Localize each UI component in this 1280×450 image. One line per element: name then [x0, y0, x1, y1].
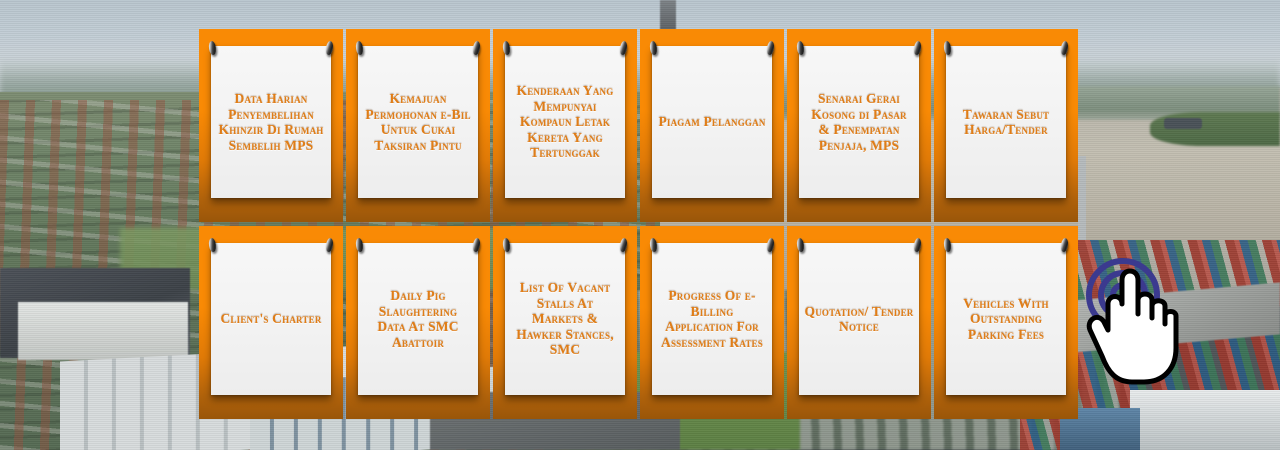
- card-row-1: Data Harian Penyembelihan Khinzir Di Rum…: [199, 29, 1081, 222]
- dataset-card-grid: Data Harian Penyembelihan Khinzir Di Rum…: [199, 29, 1081, 419]
- background-white-building: [18, 302, 188, 360]
- card-tile-kenderaan-kompaun-letak-kereta[interactable]: Kenderaan Yang Mempunyai Kompaun Letak K…: [493, 29, 637, 222]
- card-paper[interactable]: Senarai Gerai Kosong di Pasar & Penempat…: [799, 46, 919, 198]
- pushpin-icon-right: [766, 41, 775, 56]
- card-title: Piagam Pelanggan: [658, 114, 765, 130]
- card-title: Vehicles With Outstanding Parking Fees: [951, 296, 1061, 343]
- card-title: Client's Charter: [220, 311, 321, 327]
- pushpin-icon-right: [1060, 41, 1069, 56]
- pushpin-icon-right: [472, 238, 481, 253]
- card-tile-piagam-pelanggan[interactable]: Piagam Pelanggan: [640, 29, 784, 222]
- background-cargo-boat: [1164, 118, 1202, 129]
- card-paper[interactable]: Vehicles With Outstanding Parking Fees: [946, 243, 1066, 395]
- card-title: Progress Of e-Billing Application For As…: [657, 288, 767, 350]
- pushpin-icon-right: [325, 238, 334, 253]
- pushpin-icon-right: [472, 41, 481, 56]
- pushpin-icon-right: [619, 41, 628, 56]
- pushpin-icon-left: [796, 41, 805, 56]
- mouse-cursor: [1078, 252, 1198, 392]
- pushpin-icon-right: [619, 238, 628, 253]
- card-paper[interactable]: Kemajuan Permohonan e-Bil Untuk Cukai Ta…: [358, 46, 478, 198]
- card-paper[interactable]: Piagam Pelanggan: [652, 46, 772, 198]
- pointing-hand-cursor-icon: [1078, 252, 1198, 392]
- card-paper[interactable]: Quotation/ Tender Notice: [799, 243, 919, 395]
- pushpin-icon-left: [208, 41, 217, 56]
- card-paper[interactable]: Kenderaan Yang Mempunyai Kompaun Letak K…: [505, 46, 625, 198]
- card-paper[interactable]: Tawaran Sebut Harga/Tender: [946, 46, 1066, 198]
- card-tile-data-harian-penyembelihan-khinzir[interactable]: Data Harian Penyembelihan Khinzir Di Rum…: [199, 29, 343, 222]
- card-title: Tawaran Sebut Harga/Tender: [951, 107, 1061, 138]
- card-title: Senarai Gerai Kosong di Pasar & Penempat…: [804, 91, 914, 153]
- page-stage: Data Harian Penyembelihan Khinzir Di Rum…: [0, 0, 1280, 450]
- pushpin-icon-right: [913, 238, 922, 253]
- card-title: Quotation/ Tender Notice: [804, 304, 914, 335]
- pushpin-icon-left: [355, 238, 364, 253]
- pushpin-icon-left: [943, 41, 952, 56]
- pushpin-icon-left: [208, 238, 217, 253]
- card-tile-kemajuan-permohonan-e-bil[interactable]: Kemajuan Permohonan e-Bil Untuk Cukai Ta…: [346, 29, 490, 222]
- pushpin-icon-left: [943, 238, 952, 253]
- card-tile-progress-of-e-billing[interactable]: Progress Of e-Billing Application For As…: [640, 226, 784, 419]
- card-paper[interactable]: List Of Vacant Stalls At Markets & Hawke…: [505, 243, 625, 395]
- card-title: Data Harian Penyembelihan Khinzir Di Rum…: [216, 91, 326, 153]
- pushpin-icon-left: [502, 41, 511, 56]
- pushpin-icon-right: [913, 41, 922, 56]
- pushpin-icon-right: [325, 41, 334, 56]
- pushpin-icon-left: [649, 41, 658, 56]
- card-tile-quotation-tender-notice[interactable]: Quotation/ Tender Notice: [787, 226, 931, 419]
- pushpin-icon-right: [766, 238, 775, 253]
- card-tile-senarai-gerai-kosong[interactable]: Senarai Gerai Kosong di Pasar & Penempat…: [787, 29, 931, 222]
- pushpin-icon-left: [649, 238, 658, 253]
- card-title: List Of Vacant Stalls At Markets & Hawke…: [510, 280, 620, 358]
- card-tile-clients-charter[interactable]: Client's Charter: [199, 226, 343, 419]
- pushpin-icon-left: [355, 41, 364, 56]
- card-tile-tawaran-sebut-harga-tender[interactable]: Tawaran Sebut Harga/Tender: [934, 29, 1078, 222]
- card-tile-daily-pig-slaughtering-data[interactable]: Daily Pig Slaughtering Data At SMC Abatt…: [346, 226, 490, 419]
- card-title: Kenderaan Yang Mempunyai Kompaun Letak K…: [510, 83, 620, 161]
- pushpin-icon-left: [502, 238, 511, 253]
- card-paper[interactable]: Data Harian Penyembelihan Khinzir Di Rum…: [211, 46, 331, 198]
- card-title: Daily Pig Slaughtering Data At SMC Abatt…: [363, 288, 473, 350]
- background-port-building-1: [1130, 390, 1280, 450]
- card-paper[interactable]: Client's Charter: [211, 243, 331, 395]
- card-tile-vehicles-outstanding-parking-fees[interactable]: Vehicles With Outstanding Parking Fees: [934, 226, 1078, 419]
- card-paper[interactable]: Progress Of e-Billing Application For As…: [652, 243, 772, 395]
- card-tile-list-of-vacant-stalls[interactable]: List Of Vacant Stalls At Markets & Hawke…: [493, 226, 637, 419]
- card-title: Kemajuan Permohonan e-Bil Untuk Cukai Ta…: [363, 91, 473, 153]
- card-row-2: Client's Charter Daily Pig Slaughtering …: [199, 226, 1081, 419]
- pushpin-icon-left: [796, 238, 805, 253]
- pushpin-icon-right: [1060, 238, 1069, 253]
- card-paper[interactable]: Daily Pig Slaughtering Data At SMC Abatt…: [358, 243, 478, 395]
